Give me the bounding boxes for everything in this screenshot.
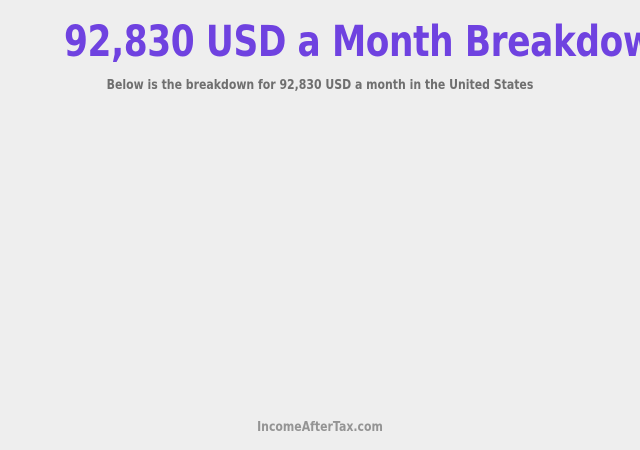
chart-region: Chart area is blank in the screenshot — … — [0, 94, 640, 420]
page-title: 92,830 USD a Month Breakdown — [64, 18, 576, 66]
page-header: 92,830 USD a Month Breakdown Below is th… — [0, 0, 640, 94]
chart-canvas — [0, 94, 640, 420]
breakdown-page: 92,830 USD a Month Breakdown Below is th… — [0, 0, 640, 450]
page-subtitle: Below is the breakdown for 92,830 USD a … — [51, 66, 589, 94]
site-credit: IncomeAfterTax.com — [51, 420, 589, 436]
page-footer: IncomeAfterTax.com — [0, 420, 640, 450]
